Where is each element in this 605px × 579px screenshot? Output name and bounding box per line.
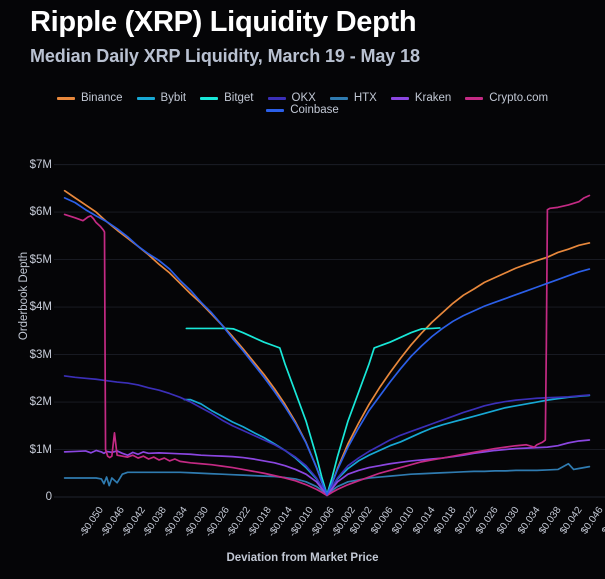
series-line-coinbase bbox=[65, 198, 590, 495]
series-line-htx bbox=[65, 464, 590, 495]
series-line-crypto-com bbox=[65, 195, 590, 495]
plot-area bbox=[0, 0, 605, 579]
series-line-bitget bbox=[186, 328, 439, 495]
chart-container: Ripple (XRP) Liquidity Depth Median Dail… bbox=[0, 0, 605, 579]
series-line-kraken bbox=[65, 440, 590, 495]
series-line-okx bbox=[65, 376, 590, 495]
